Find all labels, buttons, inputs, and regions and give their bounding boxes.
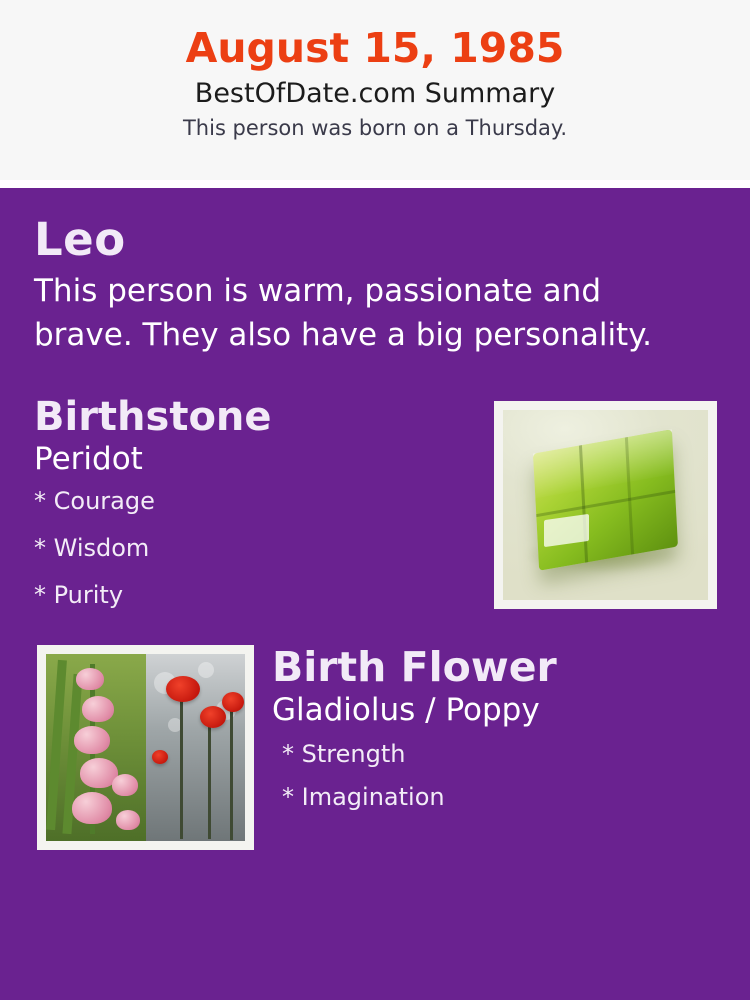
poppy-bloom xyxy=(222,692,244,712)
site-summary-label: BestOfDate.com Summary xyxy=(20,78,730,110)
summary-page: August 15, 1985 BestOfDate.com Summary T… xyxy=(0,0,750,1000)
header-divider xyxy=(0,180,750,188)
birth-flower-name: Gladiolus / Poppy xyxy=(272,692,716,729)
zodiac-sign-title: Leo xyxy=(34,216,716,263)
zodiac-description: This person is warm, passionate and brav… xyxy=(34,269,684,357)
gladiolus-bloom xyxy=(74,726,110,754)
birth-flower-trait: * Strength xyxy=(282,741,716,769)
gladiolus-bloom xyxy=(112,774,138,796)
weekday-note: This person was born on a Thursday. xyxy=(20,116,730,141)
poppy-bloom xyxy=(166,676,200,702)
gladiolus-bloom xyxy=(72,792,112,824)
birthstone-photo xyxy=(494,401,717,609)
poppy-stem xyxy=(180,694,183,839)
poppy-bud xyxy=(152,750,168,764)
gladiolus-photo-half xyxy=(46,654,146,841)
gem-facet-line xyxy=(536,490,675,517)
zodiac-section: Leo This person is warm, passionate and … xyxy=(34,216,716,357)
header: August 15, 1985 BestOfDate.com Summary T… xyxy=(0,0,750,180)
page-title-date: August 15, 1985 xyxy=(20,26,730,72)
peridot-gem-icon xyxy=(533,429,678,570)
birthstone-section: Birthstone Peridot * Courage * Wisdom * … xyxy=(34,395,716,621)
birth-flower-heading: Birth Flower xyxy=(272,645,716,689)
gladiolus-bloom xyxy=(76,668,104,690)
birth-flower-photo xyxy=(37,645,254,850)
poppy-stem xyxy=(208,724,211,839)
birth-flower-text: Birth Flower Gladiolus / Poppy * Strengt… xyxy=(272,645,716,812)
gladiolus-bloom xyxy=(82,696,114,722)
poppy-photo-half xyxy=(146,654,246,841)
birth-flower-section: Birth Flower Gladiolus / Poppy * Strengt… xyxy=(34,645,716,860)
birthstone-photo-inner xyxy=(503,410,708,600)
poppy-bloom xyxy=(200,706,226,728)
poppy-stem xyxy=(230,710,233,840)
gladiolus-bloom xyxy=(116,810,140,830)
details-panel: Leo This person is warm, passionate and … xyxy=(0,188,750,1000)
birth-flower-trait: * Imagination xyxy=(282,784,716,812)
bokeh-circle xyxy=(198,662,214,678)
gem-facet-line xyxy=(625,437,634,554)
birth-flower-photo-inner xyxy=(46,654,245,841)
